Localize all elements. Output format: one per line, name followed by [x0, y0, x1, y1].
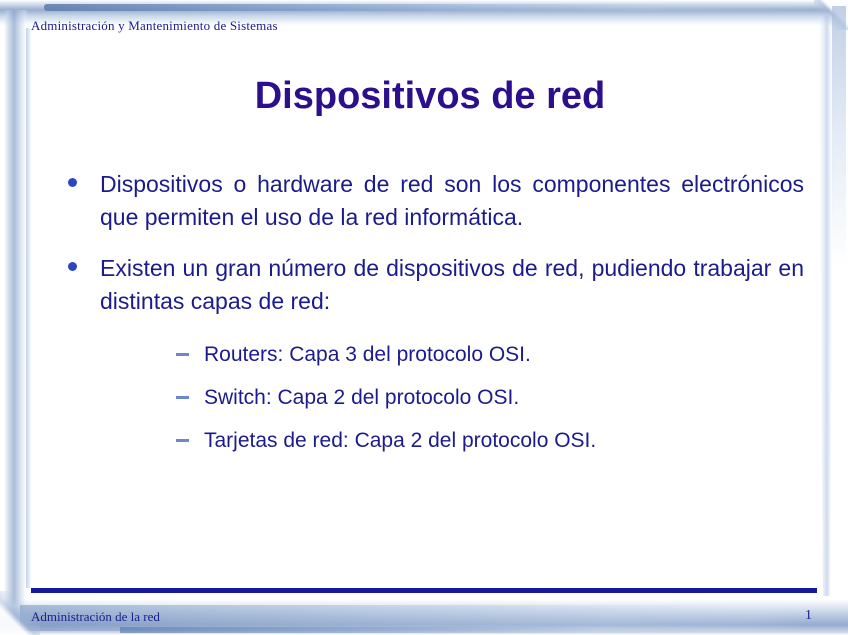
list-item: Existen un gran número de dispositivos d…: [62, 252, 804, 318]
list-item: Routers: Capa 3 del protocolo OSI.: [62, 340, 804, 369]
list-item: Switch: Capa 2 del protocolo OSI.: [62, 383, 804, 412]
list-item-label: Switch: Capa 2 del protocolo OSI.: [204, 386, 519, 409]
page-number: 1: [805, 608, 812, 624]
dash-bullet-icon: [176, 396, 189, 399]
page-title: Dispositivos de red: [60, 75, 800, 118]
round-bullet-icon: [68, 178, 77, 187]
list-item-label: Routers: Capa 3 del protocolo OSI.: [204, 343, 531, 366]
list-item-label: Existen un gran número de dispositivos d…: [100, 255, 804, 314]
slide-footer-text: Administración de la red: [31, 609, 160, 625]
footer-divider: [31, 588, 817, 593]
sub-list: Routers: Capa 3 del protocolo OSI. Switc…: [62, 340, 804, 455]
list-item: Dispositivos o hardware de red son los c…: [62, 168, 804, 234]
slide-canvas: Administración y Mantenimiento de Sistem…: [0, 0, 848, 635]
slide-header-text: Administración y Mantenimiento de Sistem…: [31, 18, 278, 34]
slide-body: Dispositivos o hardware de red son los c…: [62, 168, 804, 455]
frame-left-inner-stroke: [26, 28, 31, 588]
list-item-label: Dispositivos o hardware de red son los c…: [100, 171, 804, 230]
dash-bullet-icon: [176, 439, 189, 442]
frame-right-edge-stroke: [832, 6, 846, 266]
round-bullet-icon: [68, 262, 77, 271]
list-item-label: Tarjetas de red: Capa 2 del protocolo OS…: [204, 429, 596, 452]
frame-left-band: [4, 10, 28, 622]
dash-bullet-icon: [176, 353, 189, 356]
frame-bottom-streak: [120, 627, 760, 633]
list-item: Tarjetas de red: Capa 2 del protocolo OS…: [62, 426, 804, 455]
frame-top-streak: [44, 4, 814, 11]
